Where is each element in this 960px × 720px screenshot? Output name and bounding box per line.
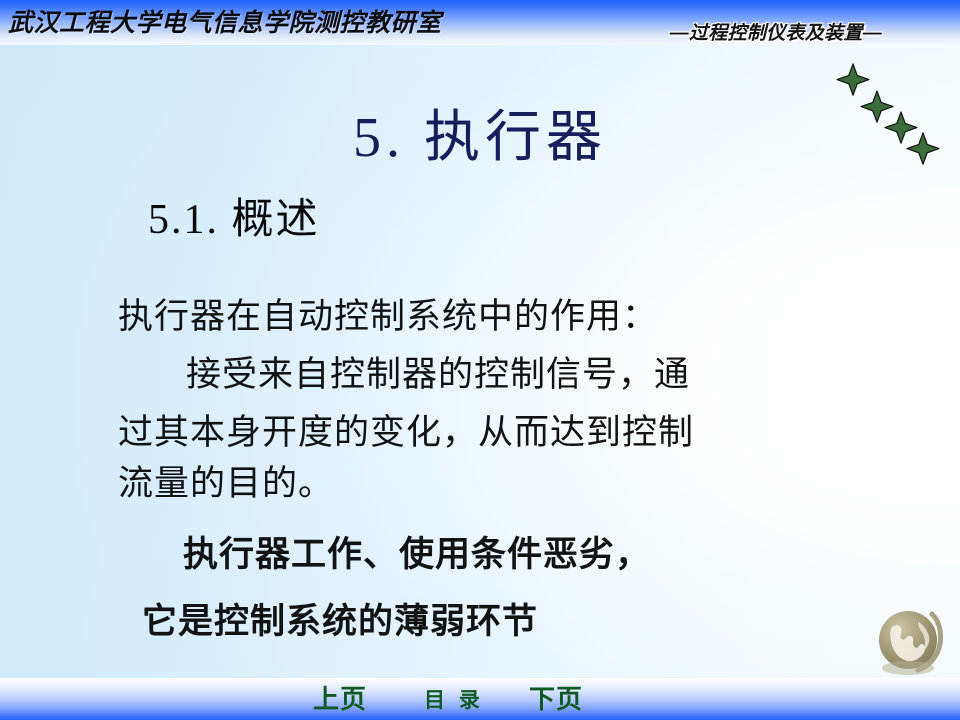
nav-next-page-button[interactable]: 下页 [529, 679, 583, 716]
nav-previous-page-button[interactable]: 上页 [313, 679, 367, 716]
slide-canvas: 武汉工程大学电气信息学院测控教研室 —过程控制仪表及装置— 5. 执行器 5.1… [0, 0, 960, 720]
emphasis-line-1: 执行器工作、使用条件恶劣， [183, 526, 651, 577]
page-title: 5. 执行器 [0, 92, 960, 173]
nav-table-of-contents-button[interactable]: 目 录 [424, 684, 484, 714]
body-line-1: 执行器在自动控制系统中的作用： [118, 288, 658, 339]
body-line-3: 过其本身开度的变化，从而达到控制 [118, 404, 694, 455]
body-line-4: 流量的目的。 [118, 455, 334, 506]
section-subtitle: 5.1. 概述 [148, 185, 320, 246]
emphasis-line-2: 它是控制系统的薄弱环节 [142, 593, 538, 644]
globe-icon [872, 600, 950, 678]
body-line-2: 接受来自控制器的控制信号，通 [118, 346, 690, 397]
header-institution-title: 武汉工程大学电气信息学院测控教研室 [8, 3, 442, 39]
header-course-title: —过程控制仪表及装置— [670, 18, 882, 45]
